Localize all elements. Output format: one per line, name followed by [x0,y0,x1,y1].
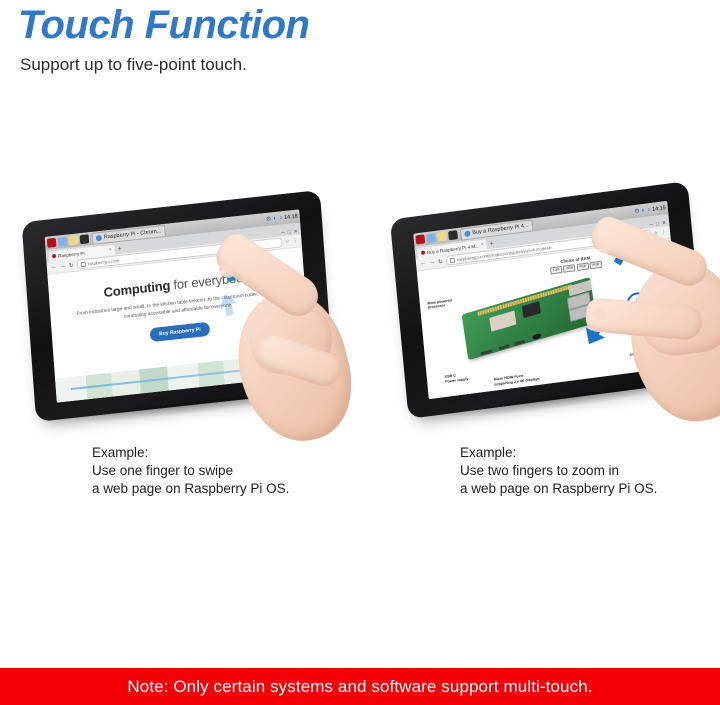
reload-button-right[interactable]: ↻ [438,258,444,266]
hero-heading-bold: Computing [103,278,171,300]
ram-option[interactable]: 8GB [590,260,602,268]
forward-button-right[interactable]: → [429,259,436,266]
window-icon [96,234,102,241]
taskbar-clock-left: 14:18 [284,213,298,220]
ram-option[interactable]: 4GB [576,262,588,270]
taskbar-tray-right: ⚙ ◐ ♪ 14:15 [634,204,668,214]
wifi-icon[interactable]: ◐ [273,215,277,221]
taskbar-tray-left: ⚙ ◐ ♪ 14:18 [266,213,300,223]
audio-jack [532,333,542,341]
tablet-screen-left: Raspberry Pi - Chrom... ⚙ ◐ ♪ 14:18 Rasp… [45,209,312,402]
tablet-device-right: Buy a Raspberry Pi 4... ⚙ ◐ ♪ 14:15 Buy … [390,181,706,419]
volume-icon[interactable]: ♪ [647,207,651,213]
arrow-stem [225,266,236,282]
usbc-power-port [481,349,493,356]
callout-usbc-power: USB-C Power supply [445,372,469,384]
ram-option[interactable]: 1GB [550,265,562,273]
note-text: Note: Only certain systems and software … [127,677,592,697]
micro-hdmi-port-2 [514,340,525,347]
page-title: Touch Function [18,2,698,48]
tablet-device-left: Raspberry Pi - Chrom... ⚙ ◐ ♪ 14:18 Rasp… [22,190,335,422]
bluetooth-icon[interactable]: ⚙ [634,208,640,215]
toolbar-extensions-left: ☆ ⋮ [285,238,298,245]
arrow-stem [225,303,234,316]
terminal-icon[interactable] [448,230,458,240]
volume-icon[interactable]: ♪ [279,215,282,221]
micro-hdmi-port-1 [499,344,510,351]
callout-micro-hdmi: Micro HDMI Ports supporting 2 x 4K displ… [494,372,540,387]
touch-function-page: Touch Function Support up to five-point … [0,0,720,705]
magnifier-plus-icon [626,291,650,316]
browser-icon[interactable] [58,237,68,247]
caption-two-fingers: Example: Use two fingers to zoom in a we… [460,444,657,498]
taskbar-clock-right: 14:15 [652,205,666,213]
ram-option[interactable]: 2GB [563,264,575,272]
window-icon [464,230,471,237]
menu-icon[interactable]: ⋮ [292,238,297,245]
demo-one-finger-swipe: Raspberry Pi - Chrom... ⚙ ◐ ♪ 14:18 Rasp… [18,188,358,448]
file-manager-icon[interactable] [69,235,79,245]
terminal-icon[interactable] [80,234,90,244]
back-button-right[interactable]: ← [420,260,427,267]
address-bar-url: raspberrypi.com [88,258,120,266]
callout-usb2: USB 2 [630,351,641,357]
buy-raspberry-pi-button[interactable]: Buy Raspberry Pi [150,322,210,342]
close-icon[interactable]: × [109,247,112,253]
callout-usb3: USB 3 [633,333,644,339]
raspberry-pi-board-image [462,277,597,360]
page-header: Touch Function Support up to five-point … [18,2,698,77]
toolbar-extensions-right: ☆ ⋮ [653,229,666,237]
bluetooth-icon[interactable]: ⚙ [266,216,272,223]
demo-two-finger-zoom: Buy a Raspberry Pi 4... ⚙ ◐ ♪ 14:15 Buy … [388,182,720,442]
favicon-icon [421,250,425,254]
favicon-icon [52,254,56,258]
soc-chip [489,311,517,332]
callout-processor: More powerful processor [427,298,452,310]
reload-button-left[interactable]: ↻ [69,262,75,270]
forward-button-left[interactable]: → [60,263,66,270]
note-banner: Note: Only certain systems and software … [0,668,720,705]
close-icon[interactable]: × [481,242,484,248]
tablet-screen-right: Buy a Raspberry Pi 4... ⚙ ◐ ♪ 14:15 Buy … [413,201,682,399]
page-subtitle: Support up to five-point touch. [20,53,698,77]
raspberry-menu-icon[interactable] [415,234,425,244]
browser-icon[interactable] [426,233,436,243]
lock-icon [450,257,455,263]
bookmark-star-icon[interactable]: ☆ [653,230,658,237]
menu-icon[interactable]: ⋮ [661,229,667,236]
bookmark-star-icon[interactable]: ☆ [285,239,290,245]
web-page-left: Computing for everybody From industries … [47,247,311,402]
wifi-icon[interactable]: ◐ [641,207,645,213]
back-button-left[interactable]: ← [51,264,57,271]
lock-icon [81,261,86,267]
caption-one-finger: Example: Use one finger to swipe a web p… [92,444,289,498]
raspberry-menu-icon[interactable] [47,238,57,248]
browser-tab-label: Raspberry Pi [58,250,85,258]
file-manager-icon[interactable] [437,232,447,242]
page-footer-image-left [55,351,311,403]
memory-chip [522,302,540,319]
ram-choice-group: Choice of RAM 1GB 2GB 4GB 8GB [549,254,602,274]
